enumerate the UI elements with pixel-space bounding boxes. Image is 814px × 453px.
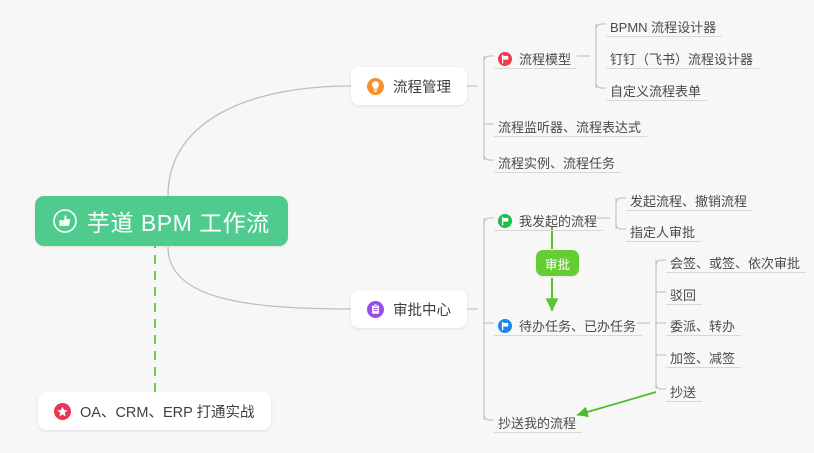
- star-icon: [54, 403, 71, 420]
- edge-mine-c2: [616, 223, 626, 229]
- branch-approval-center[interactable]: 审批中心: [351, 290, 467, 328]
- edge-todo-c5: [656, 383, 666, 389]
- node-label: 抄送: [670, 386, 696, 399]
- bottom-note-label: OA、CRM、ERP 打通实战: [80, 401, 255, 422]
- node-label: BPMN 流程设计器: [610, 21, 716, 34]
- node-label: 待办任务、已办任务: [519, 320, 636, 333]
- edge-todo-c1: [656, 260, 666, 266]
- approval-badge[interactable]: 审批: [536, 250, 579, 276]
- branch-label: 审批中心: [393, 299, 451, 320]
- node-reject[interactable]: 驳回: [666, 278, 702, 305]
- branch-label: 流程管理: [393, 76, 451, 97]
- branch-process-management[interactable]: 流程管理: [351, 67, 467, 105]
- node-label: 我发起的流程: [519, 215, 597, 228]
- node-process-instance[interactable]: 流程实例、流程任务: [494, 146, 621, 173]
- node-label: 会签、或签、依次审批: [670, 257, 800, 270]
- lightbulb-icon: [367, 78, 384, 95]
- node-delegate-transfer[interactable]: 委派、转办: [666, 309, 741, 336]
- bottom-note-card[interactable]: OA、CRM、ERP 打通实战: [38, 392, 271, 430]
- node-custom-process-form[interactable]: 自定义流程表单: [606, 74, 707, 101]
- edge-pmodel-c1: [596, 24, 606, 30]
- edge-cc-arrow: [577, 392, 656, 415]
- node-label: 抄送我的流程: [498, 417, 576, 430]
- node-label: 指定人审批: [630, 226, 695, 239]
- node-process-model[interactable]: 流程模型: [494, 42, 577, 69]
- node-my-started-process[interactable]: 我发起的流程: [494, 204, 603, 231]
- edge-mine-c1: [616, 198, 626, 204]
- node-countersign[interactable]: 会签、或签、依次审批: [666, 246, 806, 273]
- flag-icon: [498, 319, 512, 333]
- node-cc-to-me[interactable]: 抄送我的流程: [494, 406, 582, 433]
- thumbs-up-icon: [53, 209, 77, 233]
- edge-pmodel-c3: [596, 82, 606, 88]
- root-node[interactable]: 芋道 BPM 工作流: [35, 196, 288, 246]
- node-bpmn-designer[interactable]: BPMN 流程设计器: [606, 10, 722, 37]
- root-label: 芋道 BPM 工作流: [87, 204, 270, 238]
- node-cc[interactable]: 抄送: [666, 375, 702, 402]
- node-dingtalk-feishu-designer[interactable]: 钉钉（飞书）流程设计器: [606, 42, 759, 69]
- approval-badge-label: 审批: [545, 254, 570, 273]
- node-label: 钉钉（飞书）流程设计器: [610, 53, 753, 66]
- node-label: 加签、减签: [670, 352, 735, 365]
- edge-root-to-process-management: [168, 86, 351, 196]
- node-start-cancel-process[interactable]: 发起流程、撤销流程: [626, 184, 753, 211]
- node-label: 驳回: [670, 289, 696, 302]
- edge-root-to-approval-center: [168, 247, 351, 309]
- node-label: 流程模型: [519, 53, 571, 66]
- node-process-listener[interactable]: 流程监听器、流程表达式: [494, 110, 647, 137]
- node-assignee-approval[interactable]: 指定人审批: [626, 215, 701, 242]
- node-label: 发起流程、撤销流程: [630, 195, 747, 208]
- edge-ac-c1: [484, 218, 494, 224]
- node-label: 流程监听器、流程表达式: [498, 121, 641, 134]
- node-label: 流程实例、流程任务: [498, 157, 615, 170]
- flag-icon: [498, 52, 512, 66]
- mindmap-canvas: 芋道 BPM 工作流 流程管理 流程模型 BPMN 流程设计器 钉钉（飞书: [0, 0, 814, 453]
- clipboard-icon: [367, 301, 384, 318]
- node-todo-done-task[interactable]: 待办任务、已办任务: [494, 309, 642, 336]
- node-label: 自定义流程表单: [610, 85, 701, 98]
- node-label: 委派、转办: [670, 320, 735, 333]
- flag-icon: [498, 214, 512, 228]
- edge-pm-c1: [484, 56, 494, 62]
- node-add-remove-sign[interactable]: 加签、减签: [666, 341, 741, 368]
- edge-ac-c3: [484, 414, 494, 420]
- edge-pm-c3: [484, 154, 494, 160]
